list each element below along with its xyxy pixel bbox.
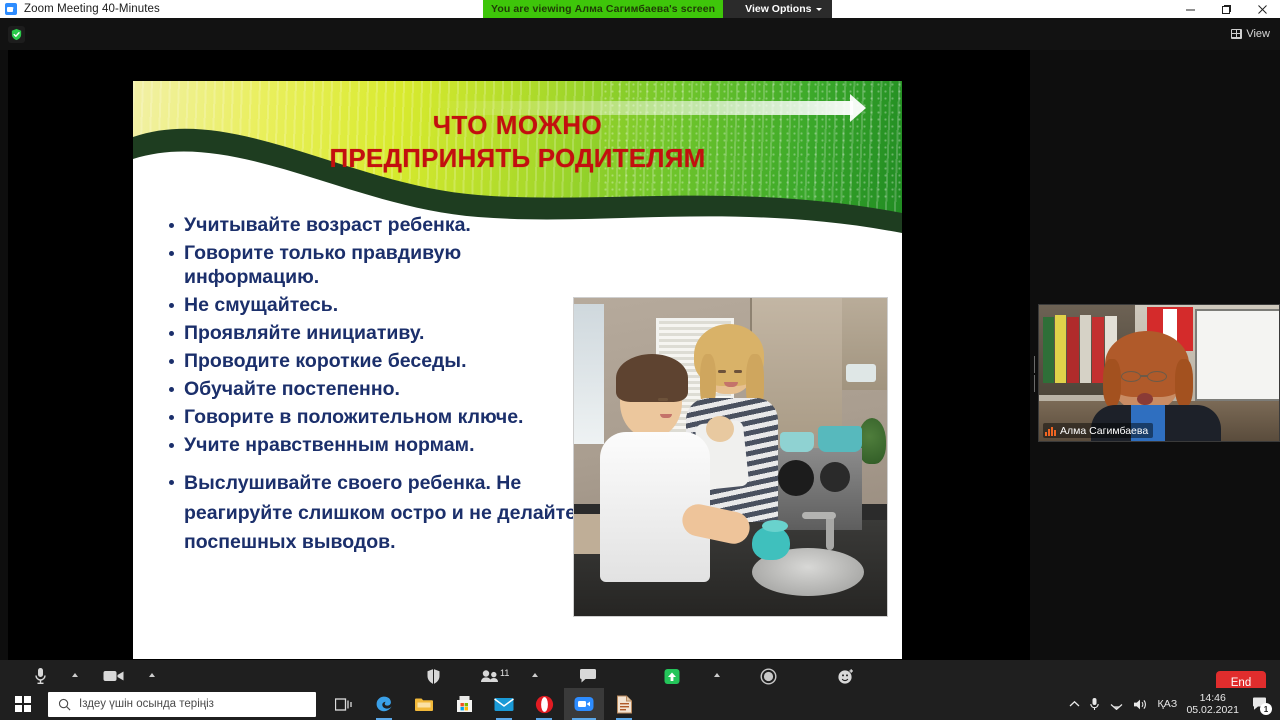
photo-cup-rim (762, 520, 788, 532)
video-whiteboard (1195, 309, 1280, 401)
view-options-button[interactable]: View Options (723, 0, 832, 18)
microsoft-store-icon[interactable] (444, 688, 484, 720)
participants-icon: 11 (480, 667, 510, 686)
windows-start-icon (15, 696, 31, 712)
presentation-slide: ЧТО МОЖНО ПРЕДПРИНЯТЬ РОДИТЕЛЯМ Учитывай… (133, 81, 902, 659)
bullet-dot-icon (169, 303, 174, 308)
file-explorer-icon[interactable] (404, 688, 444, 720)
zoom-window-titlebar: Zoom Meeting 40-Minutes You are viewing … (0, 0, 1280, 18)
photo-pot (818, 426, 862, 452)
svg-text:11: 11 (500, 669, 509, 678)
video-panel-drag-handle[interactable] (1032, 356, 1037, 392)
shared-screen-stage: ЧТО МОЖНО ПРЕДПРИНЯТЬ РОДИТЕЛЯМ Учитывай… (8, 50, 1030, 660)
slide-title-line-2: ПРЕДПРИНЯТЬ РОДИТЕЛЯМ (133, 142, 902, 175)
photo-burner (778, 460, 814, 496)
reactions-icon (837, 667, 855, 686)
task-view-icon[interactable] (324, 688, 364, 720)
bullet-text: Проявляйте инициативу. (184, 322, 424, 346)
video-binder (1080, 315, 1091, 383)
mail-icon[interactable] (484, 688, 524, 720)
record-icon (760, 667, 777, 686)
view-options-label: View Options (745, 3, 811, 15)
clock-time: 14:46 (1200, 692, 1226, 704)
slide-title-line-1: ЧТО МОЖНО (133, 109, 902, 142)
share-screen-icon (661, 667, 683, 686)
clock[interactable]: 14:46 05.02.2021 (1186, 692, 1239, 716)
taskbar-apps (324, 688, 644, 720)
photo-plant (858, 418, 886, 464)
zoom-app-icon (5, 3, 17, 15)
bullet-dot-icon (169, 223, 174, 228)
bullet-text: Обучайте постепенно. (184, 378, 400, 402)
search-input[interactable]: Іздеу үшін осында теріңіз (48, 692, 316, 717)
bullet-text: Говорите в положительном ключе. (184, 406, 523, 430)
meeting-area: View ЧТО МОЖНО ПРЕДПРИНЯТЬ РОДИТЕЛЯМ (0, 18, 1280, 688)
wifi-icon[interactable] (1109, 698, 1124, 710)
view-button-label: View (1246, 28, 1270, 40)
meeting-top-strip: View (0, 18, 1280, 50)
list-item: Обучайте постепенно. (169, 378, 584, 402)
bullet-text: Учитывайте возраст ребенка. (184, 214, 471, 238)
video-glasses-left (1121, 371, 1141, 382)
screen-share-status-bar: You are viewing Алма Сагимбаева's screen… (483, 0, 832, 18)
photo-burner (820, 462, 850, 492)
bullet-dot-icon (169, 443, 174, 448)
bullet-dot-icon (169, 251, 174, 256)
photo-side-window (574, 304, 604, 444)
bullet-text: Говорите только правдивую информацию. (184, 242, 584, 289)
bullet-text: Не смущайтесь. (184, 294, 338, 318)
list-item: Говорите только правдивую информацию. (169, 242, 584, 289)
zoom-icon[interactable] (564, 688, 604, 720)
list-item: Учитывайте возраст ребенка. (169, 214, 584, 238)
shield-icon (426, 667, 441, 686)
video-glasses-bridge (1140, 375, 1148, 377)
photo-mother-eye (734, 370, 742, 373)
windows-taskbar: Іздеу үшін осында теріңіз (0, 688, 1280, 720)
grid-view-icon (1231, 29, 1242, 39)
bullet-dot-icon (169, 415, 174, 420)
list-item: Выслушивайте своего ребенка. Не реагируй… (169, 469, 584, 558)
view-layout-button[interactable]: View (1231, 28, 1270, 40)
search-icon (58, 698, 71, 711)
photo-pot (780, 432, 814, 452)
video-binder (1055, 315, 1066, 383)
bullet-text: Учите нравственным нормам. (184, 434, 475, 458)
clock-date: 05.02.2021 (1186, 704, 1239, 716)
photo-faucet (826, 514, 834, 550)
slide-bullet-list: Учитывайте возраст ребенка. Говорите тол… (169, 214, 584, 562)
start-button[interactable] (0, 688, 46, 720)
opera-browser-icon[interactable] (524, 688, 564, 720)
bullet-dot-icon (169, 480, 174, 485)
chevron-up-icon (714, 673, 720, 677)
video-name-label: Алма Сагимбаева (1043, 423, 1153, 438)
video-mouth (1137, 393, 1153, 405)
bullet-text: Выслушивайте своего ребенка. Не реагируй… (184, 469, 584, 558)
microsoft-edge-icon[interactable] (364, 688, 404, 720)
chevron-up-icon (532, 673, 538, 677)
bullet-dot-icon (169, 387, 174, 392)
language-indicator[interactable]: ҚАЗ (1157, 698, 1177, 710)
sharing-banner: You are viewing Алма Сагимбаева's screen (483, 0, 723, 18)
chevron-down-icon (816, 8, 822, 11)
close-button[interactable] (1244, 0, 1280, 18)
list-item: Не смущайтесь. (169, 294, 584, 318)
photo-faucet-spout (802, 512, 836, 519)
notification-badge: 1 (1260, 703, 1272, 715)
list-item: Проводите короткие беседы. (169, 350, 584, 374)
video-hair-side (1103, 359, 1121, 407)
photo-mother-eye (718, 370, 726, 373)
window-title: Zoom Meeting 40-Minutes (24, 3, 160, 15)
speaker-icon[interactable] (1133, 698, 1148, 711)
photo-boy-eye (658, 398, 668, 401)
photo-boy-hair (616, 354, 688, 402)
list-item: Говорите в положительном ключе. (169, 406, 584, 430)
video-binder (1067, 317, 1079, 383)
microphone-icon[interactable] (1089, 697, 1100, 712)
video-hair-side (1175, 359, 1193, 407)
document-app-icon[interactable] (604, 688, 644, 720)
encryption-shield-icon[interactable] (8, 26, 25, 43)
participant-name: Алма Сагимбаева (1060, 425, 1148, 437)
bullet-text: Проводите короткие беседы. (184, 350, 466, 374)
participant-video-thumbnail[interactable]: Алма Сагимбаева (1038, 304, 1280, 442)
search-placeholder: Іздеу үшін осында теріңіз (79, 698, 214, 710)
photo-mother-hand (706, 416, 734, 442)
video-binder (1043, 317, 1054, 383)
audio-level-icon (1045, 426, 1056, 436)
slide-title: ЧТО МОЖНО ПРЕДПРИНЯТЬ РОДИТЕЛЯМ (133, 109, 902, 175)
show-hidden-icons-icon[interactable] (1069, 700, 1080, 708)
notifications-button[interactable]: 1 (1248, 688, 1272, 720)
bullet-dot-icon (169, 359, 174, 364)
list-item: Учите нравственным нормам. (169, 434, 584, 458)
chat-bubble-icon (579, 667, 597, 686)
slide-photo (573, 297, 888, 617)
maximize-button[interactable] (1208, 0, 1244, 18)
list-item: Проявляйте инициативу. (169, 322, 584, 346)
photo-light (846, 364, 876, 382)
system-tray: ҚАЗ 14:46 05.02.2021 1 (1069, 688, 1280, 720)
window-controls (1172, 0, 1280, 18)
minimize-button[interactable] (1172, 0, 1208, 18)
video-glasses-right (1147, 371, 1167, 382)
bullet-dot-icon (169, 331, 174, 336)
